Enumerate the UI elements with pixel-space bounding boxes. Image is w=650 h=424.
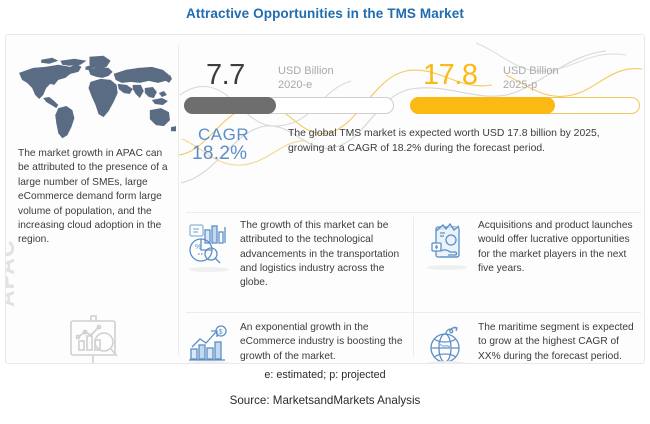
footer-source: Source: MarketsandMarkets Analysis — [0, 394, 650, 407]
infographic-root: Attractive Opportunities in the TMS Mark… — [0, 0, 650, 424]
region-column: The market growth in APAC can be attribu… — [6, 35, 178, 364]
insight-card-ecommerce-text: An exponential growth in the eCommerce i… — [240, 321, 408, 364]
svg-text:$: $ — [219, 329, 223, 336]
world-map-icon — [10, 49, 176, 145]
icon-shadow — [189, 361, 229, 364]
insight-card-acquisitions-text: Acquisitions and product launches would … — [478, 219, 640, 276]
main-panel: The market growth in APAC can be attribu… — [5, 34, 645, 364]
cagr-value: 18.2% — [192, 143, 247, 165]
unit-2025-line2: 2025-p — [503, 79, 537, 91]
insight-card-ecommerce: $ An exponential growth in the eCommerce… — [186, 321, 411, 364]
unit-2020: USD Billion 2020-e — [278, 65, 334, 92]
region-description: The market growth in APAC can be attribu… — [18, 147, 170, 248]
unit-2020-line1: USD Billion — [278, 65, 334, 77]
progress-bar-2020-fill — [184, 97, 276, 114]
insight-card-technology-text: The growth of this market can be attribu… — [240, 219, 408, 290]
unit-2025: USD Billion 2025-p — [503, 65, 559, 92]
icon-shadow — [427, 265, 467, 270]
stats-section: 7.7 USD Billion 2020-e 17.8 USD Billion … — [178, 35, 645, 175]
unit-2025-line1: USD Billion — [503, 65, 559, 77]
icon-shadow — [427, 361, 467, 364]
progress-bar-2020 — [184, 97, 394, 114]
icon-shadow — [189, 267, 229, 272]
page-title: Attractive Opportunities in the TMS Mark… — [0, 6, 650, 21]
market-description: The global TMS market is expected worth … — [288, 127, 638, 156]
presentation-chart-magnifier-icon — [58, 313, 128, 364]
globe-arrow-icon — [424, 323, 470, 364]
growth-bar-chart-dollar-icon: $ — [186, 323, 232, 364]
svg-text:%: % — [195, 244, 201, 251]
cards-vertical-divider — [413, 217, 414, 357]
cagr-label: CAGR — [198, 125, 249, 145]
value-2020: 7.7 — [206, 59, 245, 92]
unit-2020-line2: 2020-e — [278, 79, 312, 91]
value-2025: 17.8 — [423, 59, 477, 92]
region-vertical-label: APAC — [5, 240, 20, 307]
hand-holding-money-icon — [424, 221, 470, 267]
insight-card-maritime: The maritime segment is expected to grow… — [424, 321, 645, 364]
pie-bar-chart-magnifier-icon: % — [186, 221, 232, 267]
insight-card-technology: % The growth of this market can be attri… — [186, 219, 411, 290]
progress-bar-2025 — [410, 97, 640, 114]
progress-bar-2025-fill — [410, 97, 555, 114]
footer-note: e: estimated; p: projected — [0, 369, 650, 381]
cards-top-divider — [186, 212, 641, 213]
insight-card-maritime-text: The maritime segment is expected to grow… — [478, 321, 640, 364]
